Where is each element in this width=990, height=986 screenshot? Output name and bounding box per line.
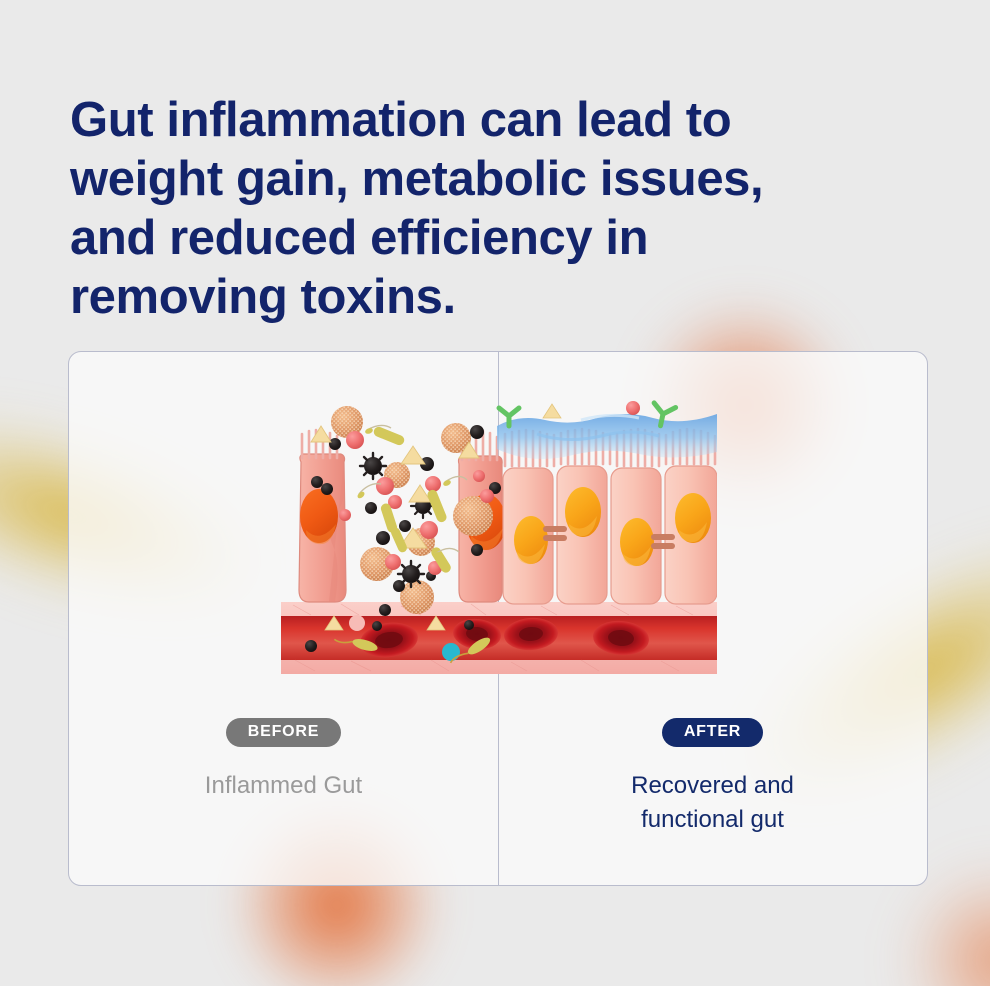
damaged-epithelial-cell-left (299, 430, 346, 602)
before-after-card: BEFORE Inflammed Gut AFTER Recovered and… (68, 351, 928, 886)
healthy-epithelial-cells (503, 466, 717, 604)
blood-vessel (281, 602, 717, 674)
inflamed-epithelium (299, 406, 506, 616)
badge-before: BEFORE (226, 718, 341, 747)
caption-after: Recovered and functional gut (498, 769, 927, 837)
gut-illustration (281, 390, 717, 686)
panel-label-row: BEFORE Inflammed Gut AFTER Recovered and… (69, 718, 927, 837)
page-headline: Gut inflammation can lead to weight gain… (70, 91, 890, 327)
panel-before: BEFORE Inflammed Gut (69, 718, 498, 837)
panel-after: AFTER Recovered and functional gut (498, 718, 927, 837)
healthy-epithelium (497, 401, 717, 604)
mucus-layer (497, 406, 717, 459)
badge-after: AFTER (662, 718, 763, 747)
caption-before: Inflammed Gut (69, 769, 498, 803)
